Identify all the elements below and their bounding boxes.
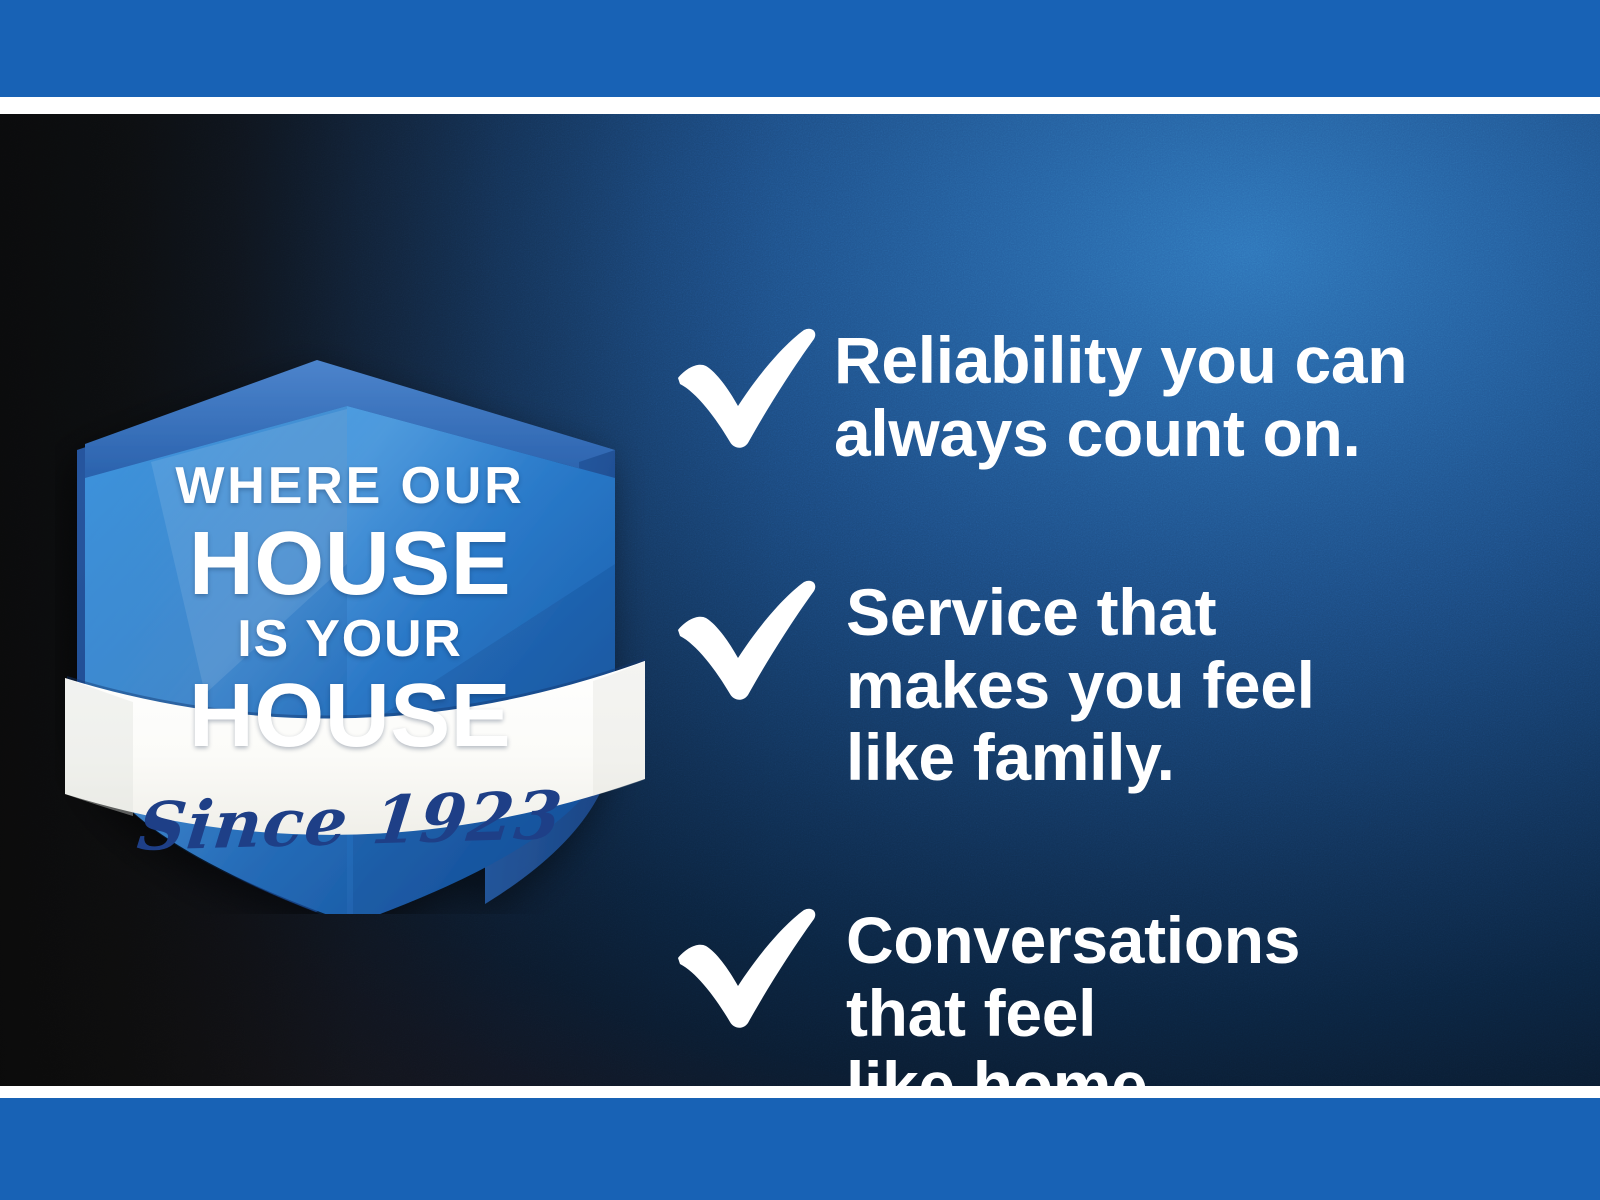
banner-stage: WHERE OUR HOUSE IS YOUR HOUSE Since 1923… bbox=[0, 114, 1600, 1086]
top-brand-bar bbox=[0, 0, 1600, 97]
list-item: Service that makes you feel like family. bbox=[672, 574, 1552, 794]
benefits-list: Reliability you can always count on. Ser… bbox=[672, 210, 1552, 1086]
promo-banner: WHERE OUR HOUSE IS YOUR HOUSE Since 1923… bbox=[0, 0, 1600, 1200]
checkmark-icon bbox=[672, 906, 818, 1028]
list-item: Conversations that feel like home. bbox=[672, 902, 1552, 1086]
list-item-text: Conversations that feel like home. bbox=[846, 902, 1552, 1086]
checkmark-icon bbox=[672, 578, 818, 700]
list-item-text: Service that makes you feel like family. bbox=[846, 574, 1552, 794]
list-item-text: Reliability you can always count on. bbox=[834, 322, 1552, 469]
checkmark-icon bbox=[672, 326, 818, 448]
list-item: Reliability you can always count on. bbox=[672, 322, 1552, 469]
logo-shield: WHERE OUR HOUSE IS YOUR HOUSE Since 1923 bbox=[55, 264, 645, 914]
shield-badge-icon bbox=[55, 264, 645, 914]
bottom-brand-bar bbox=[0, 1098, 1600, 1200]
